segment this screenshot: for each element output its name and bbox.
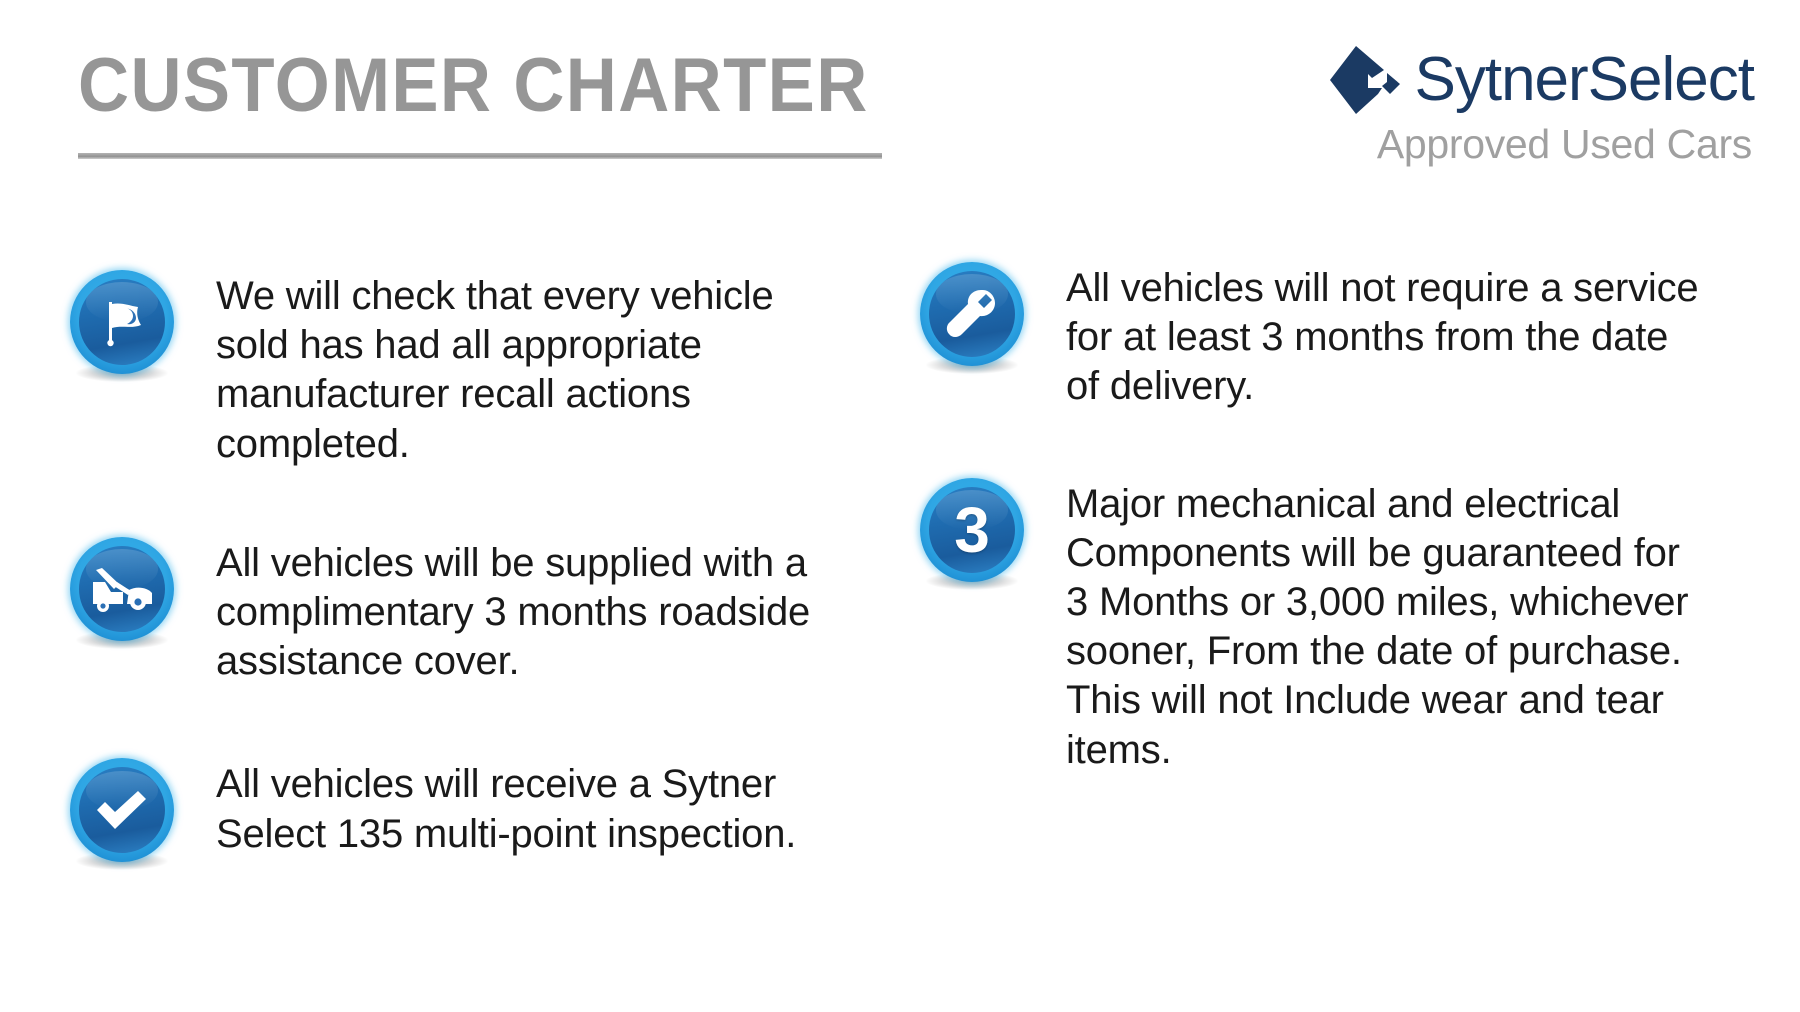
tow-truck-icon <box>89 564 155 614</box>
charter-item-text: We will check that every vehicle sold ha… <box>216 270 816 469</box>
charter-item: 3 Major mechanical and electrical Compon… <box>920 478 1740 775</box>
number-three-icon: 3 <box>954 498 990 562</box>
icon-badge <box>70 270 174 374</box>
icon-badge <box>70 758 174 862</box>
icon-ring: 3 <box>920 478 1024 582</box>
icon-face <box>79 279 165 365</box>
icon-ring <box>70 537 174 641</box>
title-underline-rule <box>78 153 882 159</box>
checkmark-icon <box>91 782 153 838</box>
page-title: CUSTOMER CHARTER <box>78 48 869 124</box>
charter-column-right: All vehicles will not require a service … <box>920 270 1740 775</box>
charter-item: All vehicles will receive a Sytner Selec… <box>70 758 870 862</box>
icon-ring <box>920 262 1024 366</box>
flag-icon <box>92 292 152 352</box>
logo-lockup: SytnerSelect <box>1328 44 1754 116</box>
sytner-diamond-logo-mark <box>1328 44 1404 116</box>
charter-item-text: All vehicles will receive a Sytner Selec… <box>216 758 816 858</box>
wrench-icon <box>942 284 1002 344</box>
charter-column-left: We will check that every vehicle sold ha… <box>70 270 870 862</box>
icon-ring <box>70 270 174 374</box>
logo-wordmark: SytnerSelect <box>1414 49 1754 111</box>
logo-tagline: Approved Used Cars <box>1377 124 1752 165</box>
icon-ring <box>70 758 174 862</box>
icon-badge <box>70 537 174 641</box>
slide-header: CUSTOMER CHARTER SytnerSelect Approved U… <box>0 0 1800 200</box>
customer-charter-slide: CUSTOMER CHARTER SytnerSelect Approved U… <box>0 0 1800 1012</box>
charter-item-text: All vehicles will not require a service … <box>1066 262 1706 412</box>
charter-item: We will check that every vehicle sold ha… <box>70 270 870 469</box>
charter-item-text: All vehicles will be supplied with a com… <box>216 537 816 687</box>
icon-badge <box>920 262 1024 366</box>
icon-badge: 3 <box>920 478 1024 582</box>
icon-face: 3 <box>929 487 1015 573</box>
charter-columns: We will check that every vehicle sold ha… <box>0 270 1800 970</box>
charter-item: All vehicles will not require a service … <box>920 262 1740 412</box>
icon-face <box>929 271 1015 357</box>
icon-face <box>79 546 165 632</box>
charter-item: All vehicles will be supplied with a com… <box>70 537 870 687</box>
icon-face <box>79 767 165 853</box>
sytner-select-logo: SytnerSelect Approved Used Cars <box>1294 44 1754 174</box>
charter-item-text: Major mechanical and electrical Componen… <box>1066 478 1706 775</box>
